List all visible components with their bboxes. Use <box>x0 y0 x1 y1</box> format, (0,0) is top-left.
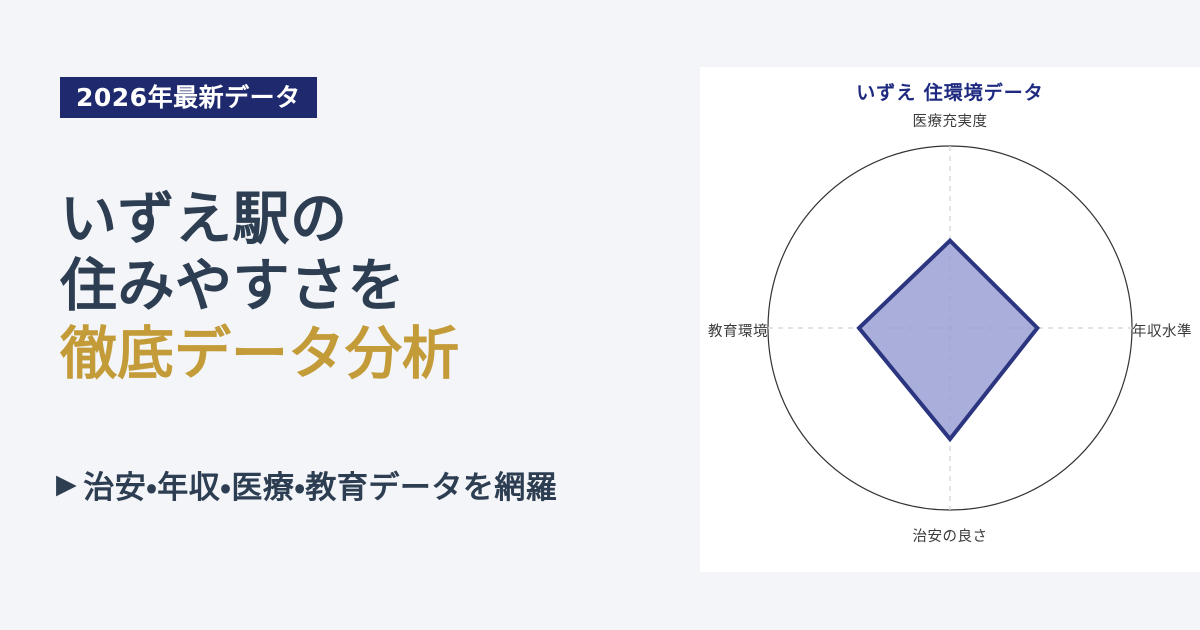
radar-chart: 医療充実度 年収水準 治安の良さ 教育環境 <box>700 67 1200 572</box>
triangle-marker-icon: ▶ <box>56 471 77 498</box>
headline-line-3-accent: 徹底データ分析 <box>60 321 680 388</box>
badge-label: 2026年最新データ <box>76 85 301 110</box>
chart-panel: いずえ 住環境データ 医療充実度 年収水準 治安の良さ 教育環境 <box>700 67 1200 572</box>
left-text-column: 2026年最新データ いずえ駅の 住みやすさを 徹底データ分析 ▶ 治安・年収・… <box>0 0 700 630</box>
radar-chart-svg <box>700 67 1200 572</box>
latest-data-badge: 2026年最新データ <box>60 77 317 118</box>
og-card: 2026年最新データ いずえ駅の 住みやすさを 徹底データ分析 ▶ 治安・年収・… <box>0 0 1200 630</box>
radar-axis-label-bottom: 治安の良さ <box>700 525 1200 546</box>
subtitle-text: 治安・年収・医療・教育データを網羅 <box>83 462 557 507</box>
radar-series-polygon <box>859 241 1037 439</box>
radar-axis-label-right: 年収水準 <box>1132 320 1192 341</box>
subtitle: ▶ 治安・年収・医療・教育データを網羅 <box>56 462 557 507</box>
radar-axis-label-top: 医療充実度 <box>700 110 1200 131</box>
headline-line-2: 住みやすさを <box>60 253 680 320</box>
page-title: いずえ駅の 住みやすさを 徹底データ分析 <box>60 186 680 388</box>
radar-axis-label-left: 教育環境 <box>708 320 768 341</box>
headline-line-1: いずえ駅の <box>60 186 680 253</box>
